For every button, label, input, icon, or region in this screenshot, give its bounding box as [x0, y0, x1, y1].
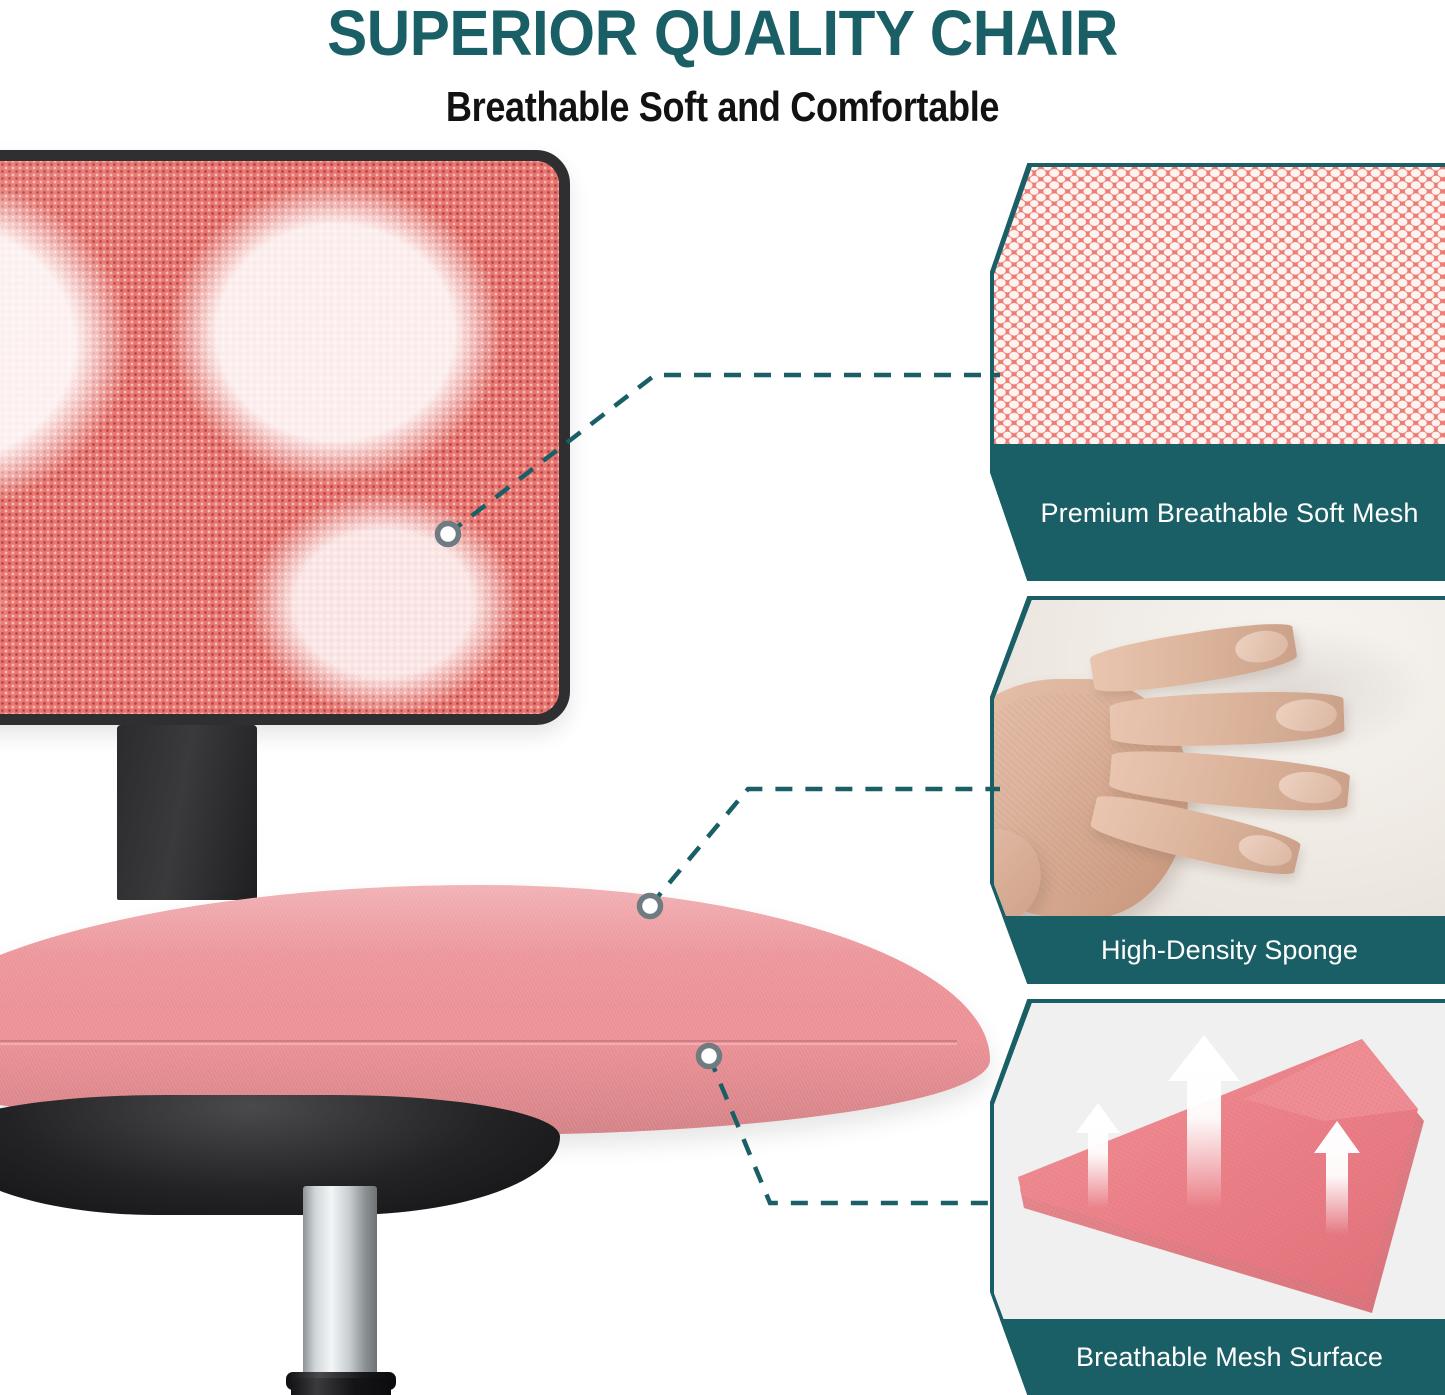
feature-panel-sponge: High-Density Sponge	[990, 596, 1445, 984]
backrest-highlight	[0, 161, 559, 714]
chair-gas-cylinder	[303, 1186, 377, 1386]
hand-finger-index	[1088, 617, 1298, 698]
chair-seat-mechanism	[0, 1095, 560, 1215]
hand-illustration	[994, 613, 1431, 920]
chair-backrest-mesh	[0, 150, 570, 725]
panel-caption-sponge: High-Density Sponge	[990, 916, 1445, 984]
panel-media-mesh-swatch	[994, 167, 1445, 448]
feature-panel-mesh: Premium Breathable Soft Mesh	[990, 163, 1445, 581]
infographic-canvas: SUPERIOR QUALITY CHAIR Breathable Soft a…	[0, 0, 1445, 1395]
feature-panel-breathable: Breathable Mesh Surface	[990, 999, 1445, 1395]
mesh-fabric-texture	[994, 167, 1445, 448]
chair-base-hub	[291, 1378, 391, 1395]
fingernail	[1233, 627, 1290, 666]
chair-product-photo	[0, 140, 1010, 1395]
airflow-illustration	[994, 1003, 1445, 1323]
fingernail	[1278, 769, 1343, 805]
chair-back-support-post	[117, 725, 257, 900]
hand-finger-middle	[1109, 689, 1344, 749]
header-block: SUPERIOR QUALITY CHAIR Breathable Soft a…	[0, 0, 1445, 150]
panel-caption-mesh: Premium Breathable Soft Mesh	[990, 444, 1445, 581]
panel-media-hand-on-foam	[994, 600, 1445, 920]
panel-caption-breathable: Breathable Mesh Surface	[990, 1319, 1445, 1395]
page-subtitle: Breathable Soft and Comfortable	[101, 83, 1344, 131]
fingernail	[1275, 698, 1337, 732]
panel-media-airflow-diagram	[994, 1003, 1445, 1323]
fingernail	[1235, 831, 1295, 871]
page-title: SUPERIOR QUALITY CHAIR	[43, 0, 1401, 68]
